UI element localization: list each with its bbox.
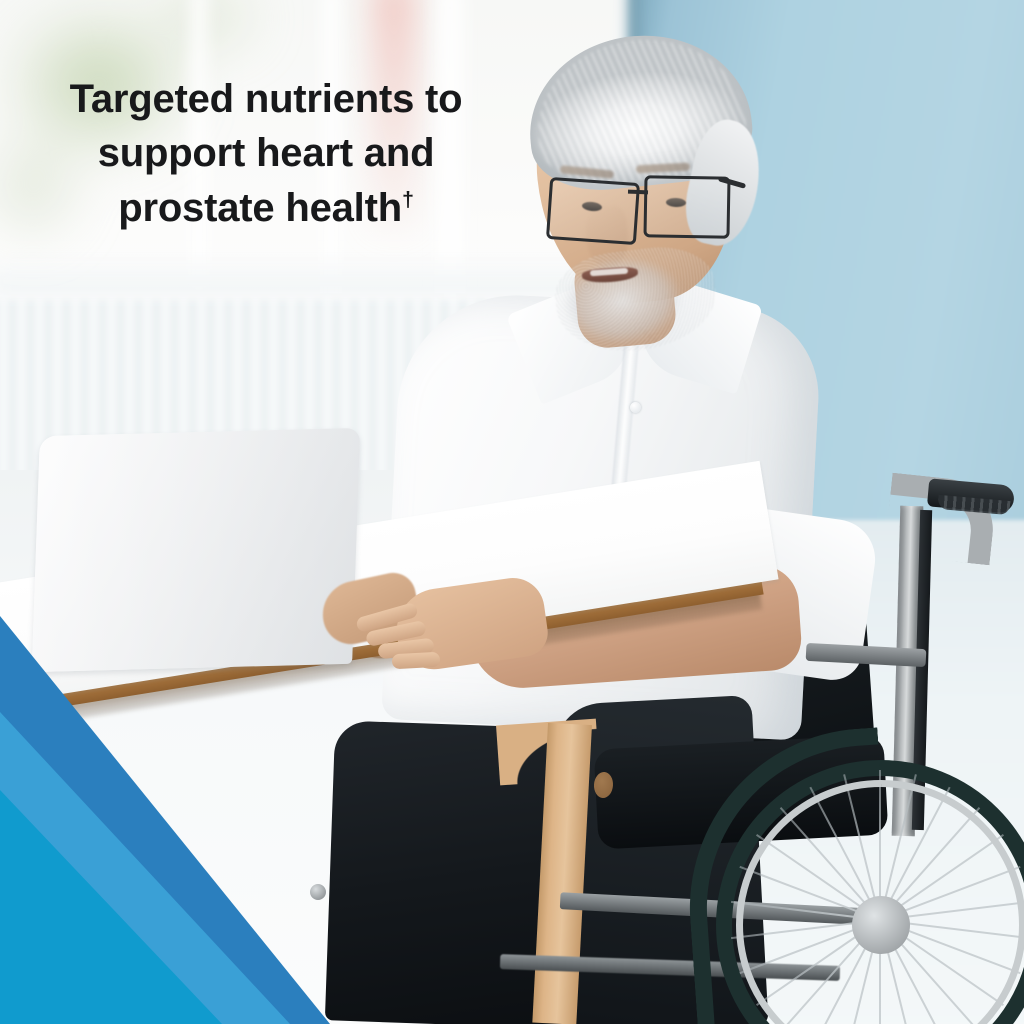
page-title: Targeted nutrients to support heart and … (56, 72, 476, 235)
headline-line-1: Targeted nutrients to (70, 77, 463, 121)
banner-canvas: Targeted nutrients to support heart and … (0, 0, 1024, 1024)
eyeglasses-bridge (628, 190, 648, 195)
footnote-dagger: † (402, 186, 414, 211)
wheelchair-frame-bolt (310, 884, 326, 900)
headline-line-2: support heart and (98, 131, 435, 175)
eyeglasses-lens-left (546, 177, 640, 245)
laptop-lid-highlight (32, 428, 361, 672)
finger (392, 652, 441, 669)
headline-line-3: prostate health (118, 186, 402, 230)
shirt-button (630, 402, 641, 413)
eyeglasses-lens-right (643, 175, 730, 238)
